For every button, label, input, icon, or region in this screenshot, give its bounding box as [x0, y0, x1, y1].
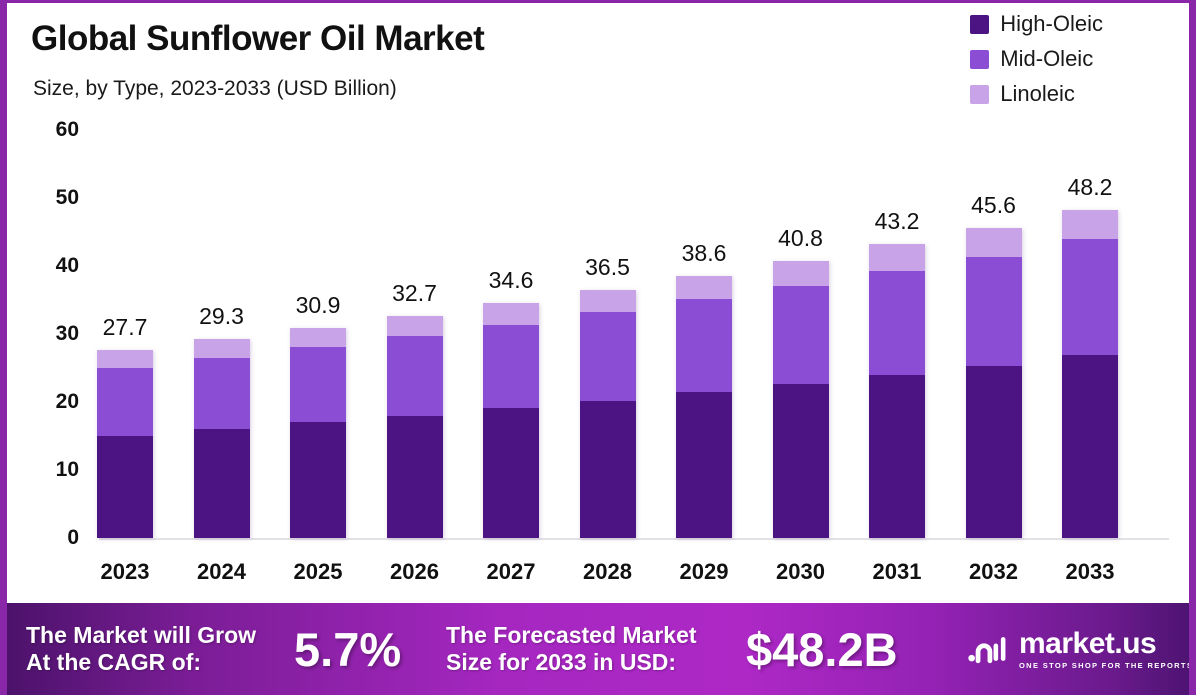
- bar-segment-linoleic: [580, 290, 636, 312]
- bar-segment-mid-oleic: [194, 358, 250, 429]
- bar-segment-high-oleic: [483, 408, 539, 538]
- forecast-caption: The Forecasted Market Size for 2033 in U…: [446, 622, 746, 676]
- y-axis-tick-10: 10: [21, 458, 79, 482]
- forecast-value: $48.2B: [746, 622, 964, 677]
- bar-segment-mid-oleic: [97, 368, 153, 436]
- bar-segment-high-oleic: [966, 366, 1022, 538]
- bar-segment-high-oleic: [869, 375, 925, 538]
- bar-segment-linoleic: [97, 350, 153, 368]
- bar-2026[interactable]: [387, 316, 443, 538]
- bar-segment-mid-oleic: [387, 336, 443, 416]
- x-axis-tick-2031: 2031: [847, 559, 947, 585]
- bar-2027[interactable]: [483, 303, 539, 538]
- forecast-caption-line2: Size for 2033 in USD:: [446, 649, 746, 676]
- bar-value-label-2025: 30.9: [268, 292, 368, 319]
- chart-plot-area: 0102030405060 27.729.330.932.734.636.538…: [7, 3, 1196, 603]
- y-axis-tick-40: 40: [21, 254, 79, 278]
- x-axis-tick-2025: 2025: [268, 559, 368, 585]
- bottom-banner: The Market will Grow At the CAGR of: 5.7…: [0, 603, 1196, 695]
- x-axis-tick-2032: 2032: [944, 559, 1044, 585]
- bar-segment-high-oleic: [387, 416, 443, 538]
- bar-segment-mid-oleic: [966, 257, 1022, 366]
- bar-segment-linoleic: [676, 276, 732, 300]
- bar-value-label-2031: 43.2: [847, 208, 947, 235]
- bar-segment-linoleic: [869, 244, 925, 271]
- bar-value-label-2027: 34.6: [461, 267, 561, 294]
- x-axis-tick-2027: 2027: [461, 559, 561, 585]
- bar-segment-linoleic: [387, 316, 443, 336]
- bar-2032[interactable]: [966, 228, 1022, 538]
- bar-2023[interactable]: [97, 350, 153, 538]
- cagr-caption-line2: At the CAGR of:: [26, 649, 294, 676]
- x-axis-tick-2030: 2030: [751, 559, 851, 585]
- bar-segment-mid-oleic: [676, 299, 732, 392]
- bar-segment-high-oleic: [1062, 355, 1118, 538]
- cagr-value: 5.7%: [294, 622, 446, 677]
- bar-2033[interactable]: [1062, 210, 1118, 538]
- x-axis-tick-2028: 2028: [558, 559, 658, 585]
- bar-segment-linoleic: [1062, 210, 1118, 239]
- bar-segment-mid-oleic: [483, 325, 539, 409]
- bar-segment-high-oleic: [290, 422, 346, 538]
- bar-segment-high-oleic: [97, 436, 153, 538]
- bar-2031[interactable]: [869, 244, 925, 538]
- x-axis-tick-2023: 2023: [75, 559, 175, 585]
- x-axis-tick-2033: 2033: [1040, 559, 1140, 585]
- bar-segment-linoleic: [194, 339, 250, 358]
- x-axis-tick-2026: 2026: [365, 559, 465, 585]
- market-us-logo[interactable]: market.us ONE STOP SHOP FOR THE REPORTS: [968, 629, 1193, 670]
- logo-wordmark: market.us: [1019, 629, 1193, 659]
- x-axis-tick-2029: 2029: [654, 559, 754, 585]
- y-axis-tick-50: 50: [21, 186, 79, 210]
- bar-value-label-2023: 27.7: [75, 314, 175, 341]
- bar-value-label-2026: 32.7: [365, 280, 465, 307]
- forecast-caption-line1: The Forecasted Market: [446, 622, 746, 649]
- y-axis-tick-30: 30: [21, 322, 79, 346]
- bar-value-label-2028: 36.5: [558, 254, 658, 281]
- bar-value-label-2033: 48.2: [1040, 174, 1140, 201]
- bar-2030[interactable]: [773, 261, 829, 538]
- bar-segment-mid-oleic: [290, 347, 346, 422]
- y-axis-tick-60: 60: [21, 118, 79, 142]
- logo-tagline: ONE STOP SHOP FOR THE REPORTS: [1019, 662, 1193, 670]
- bar-2024[interactable]: [194, 339, 250, 538]
- y-axis-tick-20: 20: [21, 390, 79, 414]
- bar-value-label-2030: 40.8: [751, 225, 851, 252]
- bar-value-label-2029: 38.6: [654, 240, 754, 267]
- bar-segment-mid-oleic: [869, 271, 925, 375]
- market-us-logo-mark: [968, 632, 1010, 666]
- y-axis-tick-0: 0: [21, 526, 79, 550]
- bar-segment-linoleic: [966, 228, 1022, 257]
- bar-segment-high-oleic: [676, 392, 732, 538]
- bar-segment-linoleic: [483, 303, 539, 325]
- bar-2025[interactable]: [290, 328, 346, 538]
- bar-segment-linoleic: [290, 328, 346, 347]
- bar-segment-high-oleic: [194, 429, 250, 538]
- bar-segment-mid-oleic: [1062, 239, 1118, 355]
- cagr-caption: The Market will Grow At the CAGR of:: [26, 622, 294, 676]
- infographic-frame: Global Sunflower Oil Market Size, by Typ…: [0, 0, 1196, 695]
- bar-segment-high-oleic: [773, 384, 829, 538]
- bar-segment-linoleic: [773, 261, 829, 287]
- x-axis-baseline: [99, 538, 1169, 540]
- bar-segment-high-oleic: [580, 401, 636, 538]
- bar-value-label-2024: 29.3: [172, 303, 272, 330]
- bar-2028[interactable]: [580, 290, 636, 538]
- x-axis-tick-2024: 2024: [172, 559, 272, 585]
- cagr-caption-line1: The Market will Grow: [26, 622, 294, 649]
- bar-segment-mid-oleic: [580, 312, 636, 401]
- bar-segment-mid-oleic: [773, 286, 829, 383]
- bar-value-label-2032: 45.6: [944, 192, 1044, 219]
- bar-2029[interactable]: [676, 276, 732, 538]
